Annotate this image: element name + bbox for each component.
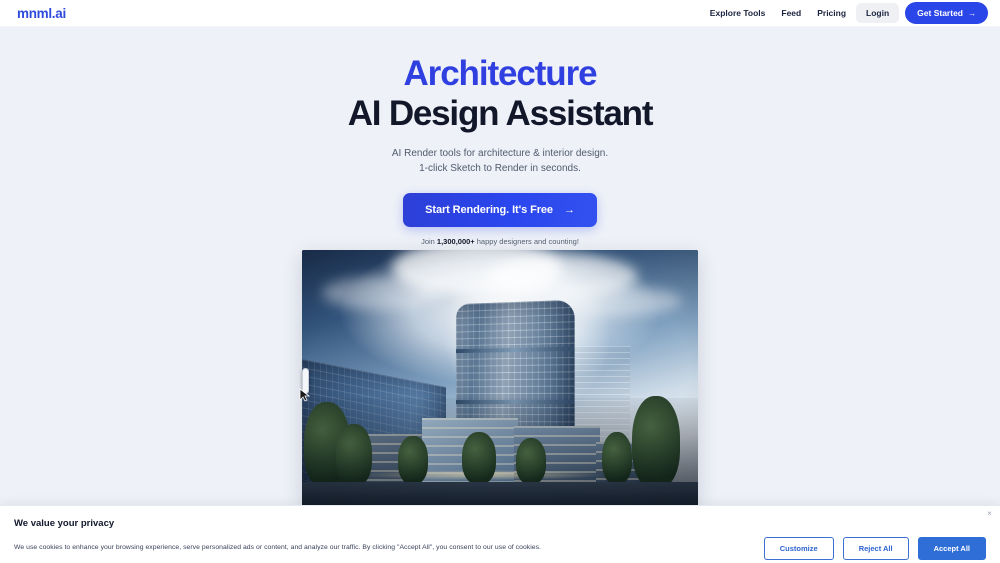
accept-all-cookies-button[interactable]: Accept All	[918, 537, 986, 560]
ground-plane	[302, 482, 698, 506]
tree-shape	[602, 432, 632, 484]
start-rendering-label: Start Rendering. It's Free	[425, 204, 553, 216]
tree-shape	[632, 396, 680, 488]
main-nav: Explore Tools Feed Pricing Login Get Sta…	[704, 2, 988, 24]
page-root: mnml.ai Explore Tools Feed Pricing Login…	[0, 0, 1000, 563]
nav-item-explore-tools[interactable]: Explore Tools	[704, 3, 772, 23]
start-rendering-button[interactable]: Start Rendering. It's Free →	[403, 193, 597, 227]
hero-subtitle-line1: AI Render tools for architecture & inter…	[0, 146, 1000, 161]
cloud-shape	[322, 276, 442, 310]
cookie-banner-text: We use cookies to enhance your browsing …	[14, 544, 541, 551]
cookie-consent-banner: We value your privacy We use cookies to …	[0, 505, 1000, 563]
cookie-banner-title: We value your privacy	[14, 518, 114, 529]
arrow-right-icon: →	[564, 204, 575, 216]
nav-item-feed[interactable]: Feed	[775, 3, 807, 23]
close-icon[interactable]: ×	[985, 509, 994, 518]
arrow-right-icon: →	[968, 9, 976, 18]
hero-subtitle: AI Render tools for architecture & inter…	[0, 146, 1000, 176]
hero-title-secondary: AI Design Assistant	[0, 94, 1000, 133]
hero-title-primary: Architecture	[0, 55, 1000, 92]
hero-showcase-image[interactable]	[302, 250, 698, 506]
tree-shape	[516, 438, 546, 484]
hero-section: Architecture AI Design Assistant AI Rend…	[0, 27, 1000, 260]
social-proof-text: Join 1,300,000+ happy designers and coun…	[0, 237, 1000, 246]
customize-cookies-button[interactable]: Customize	[764, 537, 834, 560]
get-started-label: Get Started	[917, 8, 963, 18]
reject-all-cookies-button[interactable]: Reject All	[843, 537, 909, 560]
tree-shape	[398, 436, 428, 484]
social-proof-prefix: Join	[421, 237, 437, 246]
social-proof-count: 1,300,000+	[437, 237, 475, 246]
mouse-cursor-icon	[299, 388, 311, 402]
nav-item-pricing[interactable]: Pricing	[811, 3, 852, 23]
nav-item-login[interactable]: Login	[856, 3, 899, 23]
podium-shading	[302, 398, 698, 506]
social-proof-suffix: happy designers and counting!	[475, 237, 579, 246]
hero-subtitle-line2: 1-click Sketch to Render in seconds.	[0, 161, 1000, 176]
hero-cta-wrapper: Start Rendering. It's Free →	[0, 193, 1000, 227]
get-started-button[interactable]: Get Started →	[905, 2, 988, 24]
site-header: mnml.ai Explore Tools Feed Pricing Login…	[0, 0, 1000, 27]
tree-shape	[462, 432, 496, 484]
cookie-banner-actions: Customize Reject All Accept All	[764, 537, 986, 560]
site-logo[interactable]: mnml.ai	[17, 6, 66, 21]
tree-shape	[336, 424, 372, 486]
